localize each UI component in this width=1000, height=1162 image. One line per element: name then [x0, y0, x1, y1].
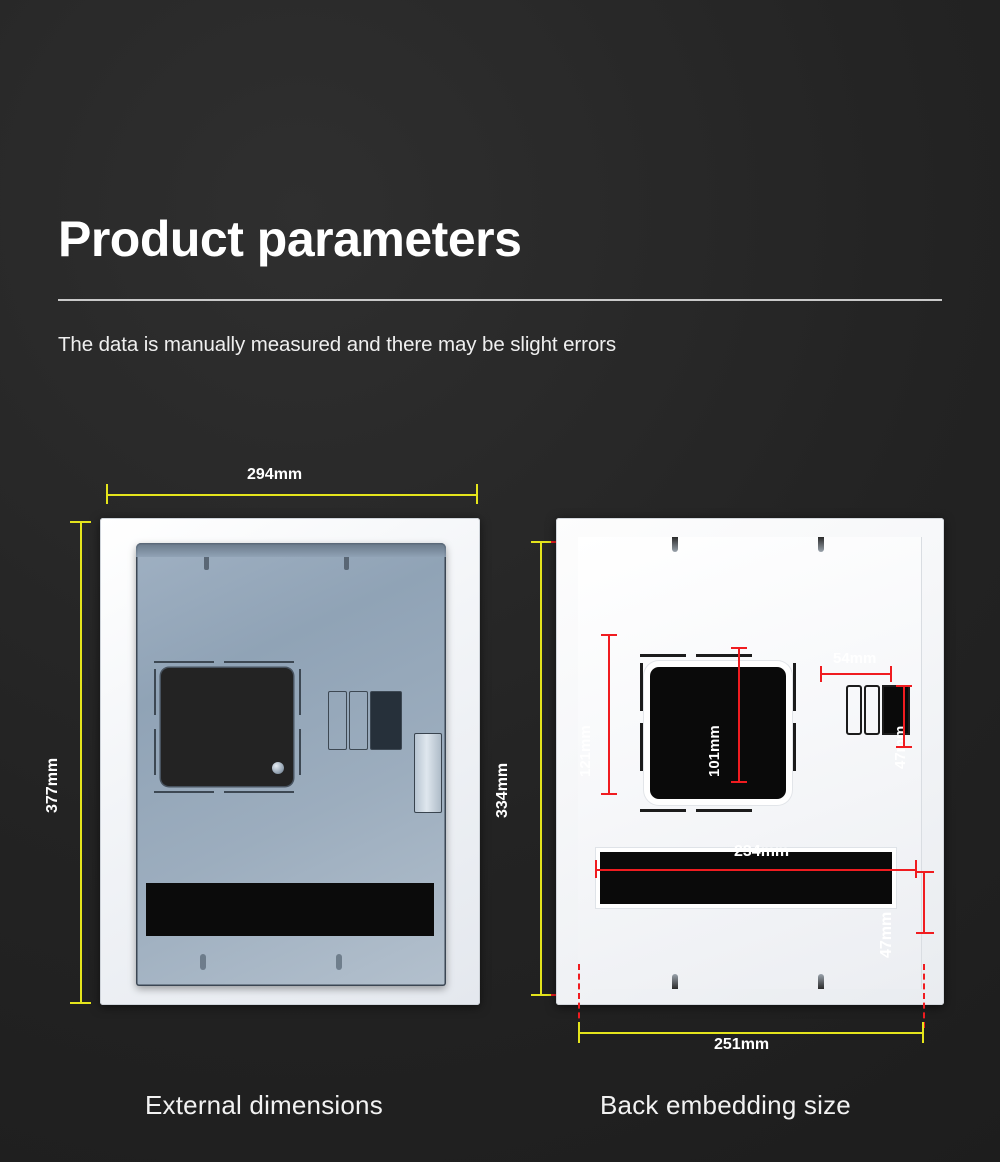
product-front-frame — [100, 518, 480, 1005]
dimension-tick-334mm-bottom — [531, 994, 551, 996]
dimension-label-strip-width-234mm: 234mm — [734, 843, 789, 861]
dimension-line-294mm — [106, 494, 478, 496]
dimension-line-121mm — [608, 634, 610, 795]
page-subtitle: The data is manually measured and there … — [58, 333, 616, 357]
dimension-label-camera-height-121mm: 121mm — [577, 725, 594, 777]
caption-back-embedding-size: Back embedding size — [600, 1090, 851, 1121]
product-smoked-door — [136, 543, 446, 986]
dimension-line-251mm — [578, 1032, 924, 1034]
dimension-tick-377mm-bottom — [70, 1002, 91, 1004]
door-lens-dot — [272, 762, 284, 774]
door-hinge — [414, 733, 442, 813]
door-camera-window — [161, 668, 293, 786]
dimension-tick-377mm-top — [70, 521, 91, 523]
dimension-tick-234mm-left — [595, 860, 597, 878]
door-keypad-module — [328, 691, 401, 748]
dimension-line-strip-47mm — [923, 871, 925, 934]
dimension-tick-251mm-right — [922, 1022, 924, 1043]
dimension-label-module-width-54mm: 54mm — [833, 650, 876, 667]
dimension-line-module-47mm — [903, 685, 905, 748]
page-title: Product parameters — [58, 214, 521, 264]
dimension-label-camera-inner-101mm: 101mm — [706, 725, 723, 777]
dimension-line-334mm — [540, 541, 542, 996]
title-divider — [58, 299, 942, 301]
dimension-tick-module-47mm-top — [896, 685, 912, 687]
dimension-line-101mm — [738, 647, 740, 783]
dimension-tick-module-47mm-bottom — [896, 746, 912, 748]
dimension-tick-121mm-bottom — [601, 793, 617, 795]
caption-external-dimensions: External dimensions — [145, 1090, 383, 1121]
dimension-label-strip-height-47mm: 47mm — [878, 912, 896, 958]
dimension-tick-101mm-top — [731, 647, 747, 649]
door-black-strip — [146, 883, 434, 936]
guide-dash-251mm-right — [923, 964, 925, 1028]
dimension-tick-101mm-bottom — [731, 781, 747, 783]
dimension-line-377mm — [80, 521, 82, 1004]
dimension-tick-251mm-left — [578, 1022, 580, 1043]
dimension-line-234mm — [595, 869, 917, 871]
dimension-tick-294mm-left — [106, 484, 108, 504]
dimension-label-body-height-334mm: 334mm — [494, 763, 512, 818]
dimension-line-54mm — [820, 673, 892, 675]
dimension-tick-54mm-left — [820, 666, 822, 682]
dimension-tick-54mm-right — [890, 666, 892, 682]
dimension-tick-234mm-right — [915, 860, 917, 878]
dimension-tick-strip-47mm-bottom — [916, 932, 934, 934]
guide-dash-251mm-left — [578, 964, 580, 1028]
dimension-label-width-294mm: 294mm — [247, 466, 302, 484]
dimension-tick-strip-47mm-top — [916, 871, 934, 873]
dimension-tick-294mm-right — [476, 484, 478, 504]
product-parameters-page: Product parameters The data is manually … — [0, 0, 1000, 1162]
dimension-tick-334mm-top — [531, 541, 551, 543]
dimension-label-body-width-251mm: 251mm — [714, 1036, 769, 1054]
dimension-label-height-377mm: 377mm — [44, 758, 62, 813]
dimension-tick-121mm-top — [601, 634, 617, 636]
product-back-body — [578, 537, 922, 989]
